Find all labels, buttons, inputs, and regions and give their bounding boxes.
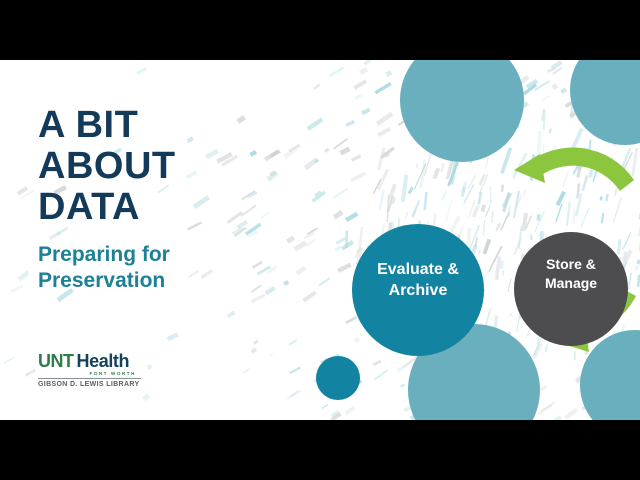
- decor-circle-top-right: [570, 60, 640, 145]
- video-frame: Evaluate & Archive Store & Manage A BIT …: [0, 0, 640, 480]
- logo-unt-text: UNT: [38, 352, 74, 370]
- letterbox-bottom-bar: [0, 420, 640, 480]
- page-title-line-3: DATA: [38, 187, 298, 228]
- slide-canvas: Evaluate & Archive Store & Manage A BIT …: [0, 60, 640, 420]
- page-title-line-1: A BIT: [38, 105, 298, 146]
- decor-circle-bottom-right: [580, 330, 640, 420]
- subtitle-line-2: Preservation: [38, 268, 298, 294]
- logo-divider: [38, 378, 141, 379]
- logo-fort-worth-text: FORT WORTH: [38, 371, 136, 376]
- page-title-line-2: ABOUT: [38, 146, 298, 187]
- decor-circle-left-edge: [316, 356, 360, 400]
- decor-circle-top-left: [400, 60, 524, 162]
- node-evaluate-archive: [352, 224, 484, 356]
- logo-wordmark: UNT Health: [38, 352, 188, 370]
- node-store-manage: [514, 232, 628, 346]
- letterbox-top-bar: [0, 0, 640, 60]
- logo-health-text: Health: [77, 352, 130, 370]
- unt-health-library-logo: UNT Health FORT WORTH GIBSON D. LEWIS LI…: [38, 352, 188, 388]
- subtitle-block: Preparing for Preservation: [38, 242, 298, 294]
- logo-library-text: GIBSON D. LEWIS LIBRARY: [38, 381, 188, 388]
- cycle-arrowhead-top: [514, 154, 545, 183]
- subtitle-line-1: Preparing for: [38, 242, 298, 268]
- title-block: A BIT ABOUT DATA Preparing for Preservat…: [38, 105, 298, 294]
